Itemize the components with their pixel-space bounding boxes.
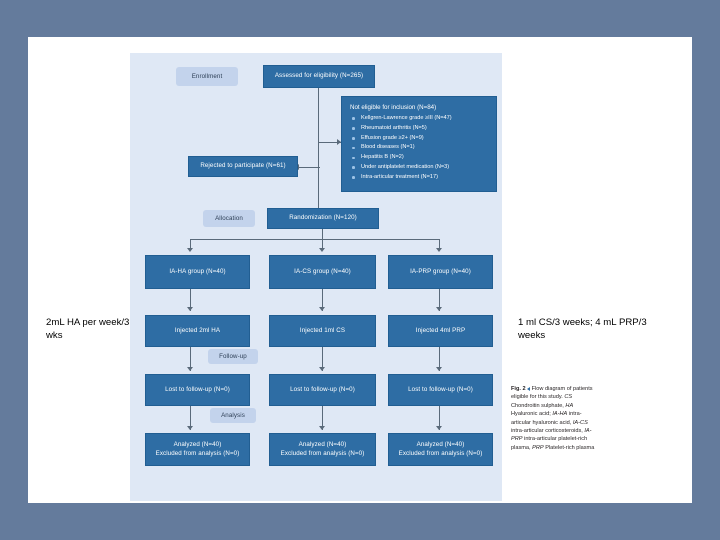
caption-text-2: Chondroitin sulphate,	[511, 403, 565, 409]
node-rejected-to-participate: Rejected to participate (N=61)	[188, 156, 298, 177]
connector-to-rejected	[298, 167, 320, 168]
arrow-lost-1	[187, 367, 193, 371]
arrow-analyzed-3	[436, 426, 442, 430]
abbr-ha: HA	[565, 403, 573, 409]
arrow-lost-3	[436, 367, 442, 371]
abbr-ia-cs: IA-CS	[573, 420, 588, 426]
node-analyzed-arm-3: Analyzed (N=40) Excluded from analysis (…	[388, 433, 493, 466]
bullet-icon	[352, 127, 355, 130]
arrow-analyzed-2	[319, 426, 325, 430]
arrow-arm-1	[187, 248, 193, 252]
node-assessed-for-eligibility: Assessed for eligibility (N=265)	[263, 65, 375, 88]
node-analyzed-arm-1: Analyzed (N=40) Excluded from analysis (…	[145, 433, 250, 466]
node-group-arm-2: IA-CS group (N=40)	[269, 255, 376, 289]
bullet-icon	[352, 157, 355, 160]
node-lost-arm-1: Lost to follow-up (N=0)	[145, 374, 250, 406]
analyzed-count: Analyzed (N=40)	[174, 441, 222, 450]
list-item: Under antiplatelet medication (N=3)	[350, 165, 488, 171]
arrow-injection-2	[319, 307, 325, 311]
list-item: Kellgren-Lawrence grade ≥III (N=47)	[350, 116, 488, 122]
excluded-count: Excluded from analysis (N=0)	[156, 450, 240, 459]
node-group-arm-3: IA-PRP group (N=40)	[388, 255, 493, 289]
bullet-icon	[352, 166, 355, 169]
excluded-count: Excluded from analysis (N=0)	[399, 450, 483, 459]
node-lost-arm-3: Lost to follow-up (N=0)	[388, 374, 493, 406]
arrow-analyzed-1	[187, 426, 193, 430]
caption-text-7: Platelet-rich plasma	[544, 445, 595, 451]
stage-label-analysis: Analysis	[210, 408, 256, 423]
annotation-left-dose: 2mL HA per week/3 wks	[46, 317, 136, 343]
node-not-eligible-for-inclusion: Not eligible for inclusion (N=84) Kellgr…	[341, 96, 497, 192]
node-injection-arm-3: Injected 4ml PRP	[388, 315, 493, 347]
slide-canvas: Enrollment Assessed for eligibility (N=2…	[28, 37, 692, 503]
abbr-prp: PRP	[532, 445, 544, 451]
connector-distribution-bar	[190, 239, 439, 240]
flow-diagram-panel: Enrollment Assessed for eligibility (N=2…	[130, 53, 502, 501]
caption-text-5: intra-articular corticosteroids,	[511, 428, 584, 434]
abbr-cs: CS	[564, 394, 572, 400]
list-item: Effusion grade ≥2+ (N=9)	[350, 136, 488, 142]
excluded-count: Excluded from analysis (N=0)	[281, 450, 365, 459]
not-eligible-title: Not eligible for inclusion (N=84)	[350, 104, 488, 111]
node-injection-arm-2: Injected 1ml CS	[269, 315, 376, 347]
node-group-arm-1: IA-HA group (N=40)	[145, 255, 250, 289]
arrow-injection-1	[187, 307, 193, 311]
connector-assessed-trunk	[318, 88, 319, 218]
analyzed-count: Analyzed (N=40)	[299, 441, 347, 450]
list-item: Rheumatoid arthritis (N=5)	[350, 126, 488, 132]
figure-caption: Fig. 2Flow diagram of patients eligible …	[511, 385, 601, 452]
bullet-icon	[352, 137, 355, 140]
stage-label-allocation: Allocation	[203, 210, 255, 227]
figure-label: Fig. 2	[511, 386, 526, 392]
bullet-icon	[352, 117, 355, 120]
arrow-injection-3	[436, 307, 442, 311]
arrow-arm-3	[436, 248, 442, 252]
arrow-lost-2	[319, 367, 325, 371]
connector-randomization-stem	[322, 229, 323, 239]
caption-arrow-icon	[527, 387, 530, 391]
not-eligible-list: Kellgren-Lawrence grade ≥III (N=47) Rheu…	[350, 116, 488, 180]
bullet-icon	[352, 147, 355, 150]
analyzed-count: Analyzed (N=40)	[417, 441, 465, 450]
node-injection-arm-1: Injected 2ml HA	[145, 315, 250, 347]
annotation-right-dose: 1 ml CS/3 weeks; 4 mL PRP/3 weeks	[518, 317, 668, 343]
list-item: Intra-articular treatment (N=17)	[350, 175, 488, 181]
stage-label-enrollment: Enrollment	[176, 67, 238, 86]
abbr-ia-ha: IA-HA	[552, 411, 567, 417]
stage-label-follow-up: Follow-up	[208, 349, 258, 364]
list-item: Blood diseases (N=1)	[350, 145, 488, 151]
bullet-icon	[352, 176, 355, 179]
list-item: Hepatitis B (N=2)	[350, 155, 488, 161]
node-lost-arm-2: Lost to follow-up (N=0)	[269, 374, 376, 406]
node-analyzed-arm-2: Analyzed (N=40) Excluded from analysis (…	[269, 433, 376, 466]
node-randomization: Randomization (N=120)	[267, 208, 379, 229]
caption-text-3: Hyaluronic acid;	[511, 411, 552, 417]
arrow-arm-2	[319, 248, 325, 252]
